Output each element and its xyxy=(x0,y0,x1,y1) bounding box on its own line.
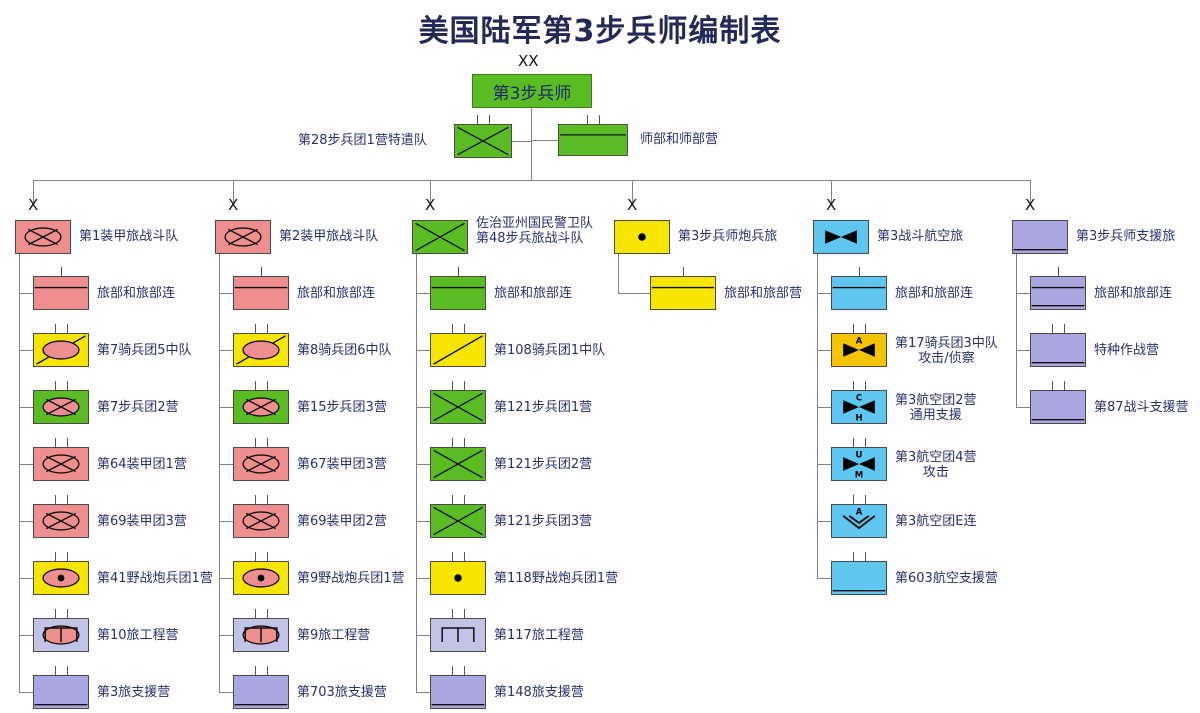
unit-connector-0-0 xyxy=(19,293,33,294)
echelon-stick xyxy=(853,552,854,561)
column-trunk-5 xyxy=(1016,254,1017,407)
echelon-stick xyxy=(599,115,600,124)
echelon-stick xyxy=(67,438,68,447)
unit-box-1-0[interactable] xyxy=(233,276,289,310)
echelon-stick xyxy=(67,324,68,333)
unit-symbol-cavalry-armored xyxy=(234,334,288,366)
unit-connector-1-1 xyxy=(219,350,233,351)
unit-box-0-4[interactable] xyxy=(33,504,89,538)
unit-symbol-support xyxy=(431,676,485,708)
unit-symbol-support xyxy=(1013,221,1067,253)
echelon-stick xyxy=(464,666,465,675)
unit-symbol-infantry xyxy=(431,391,485,423)
unit-box-1-6[interactable] xyxy=(233,618,289,652)
echelon-stick xyxy=(452,438,453,447)
unit-box-5-2[interactable] xyxy=(1030,390,1086,424)
echelon-stick xyxy=(55,609,56,618)
unit-connector-0-1 xyxy=(19,350,33,351)
unit-connector-2-0 xyxy=(416,293,430,294)
unit-label-0-7: 第3旅支援营 xyxy=(97,685,170,700)
org-chart: 美国陆军第3步兵师编制表 第3步兵师XX第28步兵团1营特遣队师部和师部营X第1… xyxy=(0,0,1200,713)
unit-label-4-1: 第17骑兵团3中队 攻击/侦察 xyxy=(895,336,998,366)
echelon-stick xyxy=(255,438,256,447)
unit-label-0-0: 旅部和旅部连 xyxy=(97,286,175,301)
unit-label-0-4: 第69装甲团3营 xyxy=(97,514,187,529)
unit-label-4-0: 旅部和旅部连 xyxy=(895,286,973,301)
brigade-header-label-5: 第3步兵师支援旅 xyxy=(1076,229,1175,244)
echelon-stick xyxy=(458,267,459,276)
unit-label-2-5: 第118野战炮兵团1营 xyxy=(494,571,618,586)
division-box[interactable]: 第3步兵师 xyxy=(472,74,592,108)
echelon-stick xyxy=(1058,267,1059,276)
echelon-stick xyxy=(67,552,68,561)
echelon-stick xyxy=(464,609,465,618)
svg-text:U: U xyxy=(856,450,863,460)
echelon-stick xyxy=(853,381,854,390)
unit-symbol-artillery-sp xyxy=(34,562,88,594)
hhb-connector xyxy=(531,140,558,141)
unit-connector-2-1 xyxy=(416,350,430,351)
division-echelon: XX xyxy=(518,54,539,69)
unit-symbol-engineer-mech xyxy=(234,619,288,651)
brigade-header-box-1[interactable] xyxy=(215,220,271,254)
unit-box-0-6[interactable] xyxy=(33,618,89,652)
brigade-echelon-1: X xyxy=(228,198,238,213)
echelon-stick xyxy=(464,438,465,447)
unit-symbol-engineer xyxy=(431,619,485,651)
unit-box-5-1[interactable] xyxy=(1030,333,1086,367)
unit-connector-1-5 xyxy=(219,578,233,579)
unit-symbol-armor xyxy=(34,505,88,537)
unit-label-2-0: 旅部和旅部连 xyxy=(494,286,572,301)
echelon-stick xyxy=(267,609,268,618)
echelon-stick xyxy=(55,324,56,333)
echelon-stick xyxy=(464,495,465,504)
unit-symbol-mech-infantry xyxy=(34,391,88,423)
echelon-stick xyxy=(683,267,684,276)
unit-symbol-aviation-attack-recon: A xyxy=(832,334,886,366)
unit-symbol-headquarters xyxy=(832,277,886,309)
unit-symbol-infantry-box xyxy=(455,125,511,157)
unit-symbol-artillery-sp xyxy=(234,562,288,594)
brigade-header-label-1: 第2装甲旅战斗队 xyxy=(279,229,378,244)
echelon-stick xyxy=(452,324,453,333)
brigade-echelon-0: X xyxy=(28,198,38,213)
echelon-stick xyxy=(255,381,256,390)
unit-label-2-7: 第148旅支援营 xyxy=(494,685,584,700)
brigade-header-box-0[interactable] xyxy=(15,220,71,254)
unit-connector-0-3 xyxy=(19,464,33,465)
unit-label-1-7: 第703旅支援营 xyxy=(297,685,387,700)
division-hhb-label: 师部和师部营 xyxy=(640,132,718,147)
unit-label-5-1: 特种作战营 xyxy=(1094,343,1159,358)
svg-text:C: C xyxy=(856,393,862,403)
echelon-stick xyxy=(67,666,68,675)
unit-symbol-engineer-mech xyxy=(34,619,88,651)
echelon-stick xyxy=(464,324,465,333)
brigade-header-box-4[interactable] xyxy=(813,220,869,254)
echelon-stick xyxy=(865,324,866,333)
brigade-header-box-3[interactable] xyxy=(614,220,670,254)
unit-box-2-6[interactable] xyxy=(430,618,486,652)
echelon-stick xyxy=(67,609,68,618)
unit-label-3-0: 旅部和旅部营 xyxy=(724,286,802,301)
unit-symbol-headquarters-box xyxy=(559,125,627,155)
unit-box-1-7[interactable] xyxy=(233,675,289,709)
unit-symbol-support xyxy=(34,676,88,708)
unit-box-2-1[interactable] xyxy=(430,333,486,367)
unit-box-2-5[interactable] xyxy=(430,561,486,595)
unit-box-1-1[interactable] xyxy=(233,333,289,367)
echelon-stick xyxy=(853,324,854,333)
echelon-stick xyxy=(477,115,478,124)
brigade-header-label-2: 佐治亚州国民警卫队 第48步兵旅战斗队 xyxy=(476,216,593,246)
unit-label-1-3: 第67装甲团3营 xyxy=(297,457,387,472)
unit-label-5-2: 第87战斗支援营 xyxy=(1094,400,1189,415)
echelon-stick xyxy=(464,552,465,561)
svg-text:A: A xyxy=(856,507,863,517)
unit-symbol-infantry xyxy=(431,448,485,480)
unit-symbol-cavalry xyxy=(431,334,485,366)
unit-symbol-support xyxy=(832,562,886,594)
echelon-stick xyxy=(255,666,256,675)
unit-symbol-aviation-cargo: CH xyxy=(832,391,886,423)
echelon-stick xyxy=(267,438,268,447)
unit-box-0-2[interactable] xyxy=(33,390,89,424)
unit-label-4-3: 第3航空团4营 攻击 xyxy=(895,450,977,480)
echelon-stick xyxy=(1064,324,1065,333)
svg-text:H: H xyxy=(855,413,862,423)
unit-connector-4-5 xyxy=(817,578,831,579)
unit-connector-2-5 xyxy=(416,578,430,579)
echelon-stick xyxy=(55,666,56,675)
unit-connector-3-0 xyxy=(618,293,650,294)
unit-box-1-5[interactable] xyxy=(233,561,289,595)
unit-label-0-1: 第7骑兵团5中队 xyxy=(97,343,192,358)
unit-connector-1-6 xyxy=(219,635,233,636)
unit-connector-4-0 xyxy=(817,293,831,294)
unit-connector-5-1 xyxy=(1016,350,1030,351)
unit-connector-4-4 xyxy=(817,521,831,522)
unit-box-2-7[interactable] xyxy=(430,675,486,709)
unit-connector-5-2 xyxy=(1016,407,1030,408)
unit-connector-1-2 xyxy=(219,407,233,408)
brigade-echelon-5: X xyxy=(1025,198,1035,213)
tf-1-28-box[interactable] xyxy=(454,124,512,158)
column-trunk-0 xyxy=(19,254,20,692)
unit-connector-1-3 xyxy=(219,464,233,465)
unit-box-4-1[interactable]: A xyxy=(831,333,887,367)
unit-label-4-2: 第3航空团2营 通用支援 xyxy=(895,393,977,423)
svg-text:A: A xyxy=(856,336,863,346)
unit-symbol-support xyxy=(1031,391,1085,423)
unit-symbol-support xyxy=(234,676,288,708)
echelon-stick xyxy=(1052,381,1053,390)
unit-symbol-headquarters xyxy=(431,277,485,309)
unit-box-5-0[interactable] xyxy=(1030,276,1086,310)
column-trunk-4 xyxy=(817,254,818,578)
unit-box-2-2[interactable] xyxy=(430,390,486,424)
division-spine xyxy=(531,106,532,180)
echelon-stick xyxy=(452,666,453,675)
unit-connector-0-5 xyxy=(19,578,33,579)
echelon-stick xyxy=(853,495,854,504)
column-trunk-1 xyxy=(219,254,220,692)
unit-label-5-0: 旅部和旅部连 xyxy=(1094,286,1172,301)
unit-symbol-headquarters-support xyxy=(1031,277,1085,309)
unit-symbol-aviation-utility: UM xyxy=(832,448,886,480)
echelon-stick xyxy=(267,552,268,561)
echelon-stick xyxy=(255,552,256,561)
echelon-stick xyxy=(255,609,256,618)
unit-connector-1-0 xyxy=(219,293,233,294)
unit-box-4-5[interactable] xyxy=(831,561,887,595)
unit-label-0-5: 第41野战炮兵团1营 xyxy=(97,571,213,586)
unit-label-1-2: 第15步兵团3营 xyxy=(297,400,387,415)
echelon-stick xyxy=(452,495,453,504)
unit-label-2-2: 第121步兵团1营 xyxy=(494,400,592,415)
echelon-stick xyxy=(464,381,465,390)
unit-symbol-aviation xyxy=(814,221,868,253)
unit-connector-4-3 xyxy=(817,464,831,465)
unit-symbol-armor xyxy=(234,505,288,537)
brigade-header-box-2[interactable] xyxy=(412,220,468,254)
tf-connector xyxy=(512,141,531,142)
echelon-stick xyxy=(261,267,262,276)
echelon-stick xyxy=(267,381,268,390)
unit-connector-1-4 xyxy=(219,521,233,522)
echelon-stick xyxy=(255,324,256,333)
unit-box-0-1[interactable] xyxy=(33,333,89,367)
unit-box-1-4[interactable] xyxy=(233,504,289,538)
echelon-stick xyxy=(267,324,268,333)
unit-box-2-4[interactable] xyxy=(430,504,486,538)
unit-symbol-armor xyxy=(216,221,270,253)
unit-symbol-mech-infantry xyxy=(234,391,288,423)
unit-connector-0-6 xyxy=(19,635,33,636)
unit-symbol-headquarters xyxy=(34,277,88,309)
unit-symbol-artillery xyxy=(615,221,669,253)
unit-connector-5-0 xyxy=(1016,293,1030,294)
column-trunk-3 xyxy=(618,254,619,293)
echelon-stick xyxy=(55,552,56,561)
echelon-stick xyxy=(587,115,588,124)
unit-connector-2-6 xyxy=(416,635,430,636)
unit-symbol-cavalry-armored xyxy=(34,334,88,366)
column-trunk-2 xyxy=(416,254,417,692)
unit-label-1-5: 第9野战炮兵团1营 xyxy=(297,571,405,586)
echelon-stick xyxy=(55,381,56,390)
brigade-echelon-2: X xyxy=(425,198,435,213)
unit-label-1-1: 第8骑兵团6中队 xyxy=(297,343,392,358)
unit-label-0-3: 第64装甲团1营 xyxy=(97,457,187,472)
unit-box-2-3[interactable] xyxy=(430,447,486,481)
brigade-header-box-5[interactable] xyxy=(1012,220,1068,254)
echelon-stick xyxy=(859,267,860,276)
unit-label-2-4: 第121步兵团3营 xyxy=(494,514,592,529)
unit-connector-4-2 xyxy=(817,407,831,408)
unit-symbol-headquarters xyxy=(234,277,288,309)
unit-label-1-6: 第9旅工程营 xyxy=(297,628,370,643)
unit-connector-2-7 xyxy=(416,692,430,693)
unit-symbol-armor xyxy=(16,221,70,253)
unit-box-0-5[interactable] xyxy=(33,561,89,595)
echelon-stick xyxy=(67,495,68,504)
unit-symbol-aviation-chevron: A xyxy=(832,505,886,537)
unit-symbol-artillery xyxy=(431,562,485,594)
echelon-stick xyxy=(489,115,490,124)
unit-box-1-3[interactable] xyxy=(233,447,289,481)
brigade-header-label-4: 第3战斗航空旅 xyxy=(877,229,963,244)
echelon-stick xyxy=(267,666,268,675)
echelon-stick xyxy=(1064,381,1065,390)
echelon-stick xyxy=(452,381,453,390)
unit-symbol-infantry xyxy=(413,221,467,253)
unit-connector-4-1 xyxy=(817,350,831,351)
unit-connector-2-3 xyxy=(416,464,430,465)
unit-box-4-2[interactable]: CH xyxy=(831,390,887,424)
echelon-stick xyxy=(452,552,453,561)
echelon-stick xyxy=(255,495,256,504)
unit-box-2-0[interactable] xyxy=(430,276,486,310)
unit-box-0-3[interactable] xyxy=(33,447,89,481)
echelon-stick xyxy=(61,267,62,276)
unit-symbol-armor xyxy=(34,448,88,480)
echelon-stick xyxy=(67,381,68,390)
unit-label-2-6: 第117旅工程营 xyxy=(494,628,584,643)
brigade-bus xyxy=(33,180,1030,181)
unit-label-1-0: 旅部和旅部连 xyxy=(297,286,375,301)
unit-symbol-infantry xyxy=(431,505,485,537)
unit-box-1-2[interactable] xyxy=(233,390,289,424)
division-hhb-box[interactable] xyxy=(558,124,628,156)
unit-box-3-0[interactable] xyxy=(650,276,716,310)
unit-connector-0-7 xyxy=(19,692,33,693)
unit-label-4-4: 第3航空团E连 xyxy=(895,514,977,529)
svg-text:M: M xyxy=(855,470,863,480)
brigade-echelon-3: X xyxy=(627,198,637,213)
unit-connector-0-2 xyxy=(19,407,33,408)
unit-box-4-0[interactable] xyxy=(831,276,887,310)
echelon-stick xyxy=(865,381,866,390)
brigade-header-label-3: 第3步兵师炮兵旅 xyxy=(678,229,777,244)
unit-symbol-armor xyxy=(234,448,288,480)
echelon-stick xyxy=(1052,324,1053,333)
unit-box-0-0[interactable] xyxy=(33,276,89,310)
echelon-stick xyxy=(55,438,56,447)
unit-box-0-7[interactable] xyxy=(33,675,89,709)
echelon-stick xyxy=(55,495,56,504)
brigade-header-label-0: 第1装甲旅战斗队 xyxy=(79,229,178,244)
unit-connector-2-4 xyxy=(416,521,430,522)
unit-label-1-4: 第69装甲团2营 xyxy=(297,514,387,529)
unit-box-4-4[interactable]: A xyxy=(831,504,887,538)
unit-symbol-headquarters-wide xyxy=(651,277,715,309)
unit-label-0-6: 第10旅工程营 xyxy=(97,628,179,643)
unit-symbol-support xyxy=(1031,334,1085,366)
unit-label-2-3: 第121步兵团2营 xyxy=(494,457,592,472)
brigade-echelon-4: X xyxy=(826,198,836,213)
unit-connector-0-4 xyxy=(19,521,33,522)
echelon-stick xyxy=(853,438,854,447)
tf-1-28-label: 第28步兵团1营特遣队 xyxy=(298,133,427,148)
unit-connector-2-2 xyxy=(416,407,430,408)
unit-box-4-3[interactable]: UM xyxy=(831,447,887,481)
unit-label-0-2: 第7步兵团2营 xyxy=(97,400,179,415)
echelon-stick xyxy=(865,438,866,447)
unit-connector-1-7 xyxy=(219,692,233,693)
echelon-stick xyxy=(865,495,866,504)
unit-label-2-1: 第108骑兵团1中队 xyxy=(494,343,605,358)
echelon-stick xyxy=(452,609,453,618)
page-title: 美国陆军第3步兵师编制表 xyxy=(0,6,1200,50)
echelon-stick xyxy=(267,495,268,504)
unit-label-4-5: 第603航空支援营 xyxy=(895,571,998,586)
echelon-stick xyxy=(865,552,866,561)
